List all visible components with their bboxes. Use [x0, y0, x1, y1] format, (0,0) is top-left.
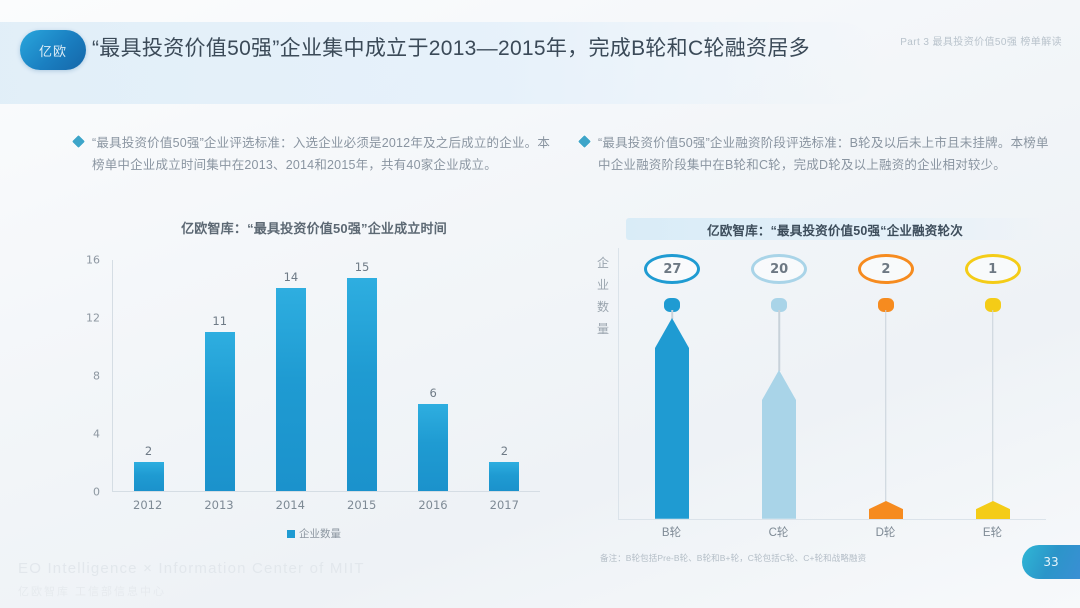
connector-stem	[992, 310, 994, 502]
chart-title-bar: 亿欧智库：“最具投资价值50强“企业融资轮次	[626, 218, 1044, 240]
bar-chart-plot-area: 0481216 211141562 2012201320142015201620…	[74, 248, 554, 528]
x-axis-tick: 2015	[331, 498, 393, 512]
connector-stem	[778, 310, 780, 371]
page-number-badge: 33	[1022, 545, 1080, 579]
funnel-series: 272021	[619, 248, 1046, 519]
funnel-x-axis-tick: D轮	[838, 524, 932, 540]
brand-logo-text: 亿欧	[39, 41, 67, 60]
chart-title-founding-year: 亿欧智库：“最具投资价值50强”企业成立时间	[74, 218, 554, 237]
chart-legend: 企业数量	[74, 526, 554, 541]
bar-rect[interactable]	[418, 404, 448, 491]
diamond-bullet-icon	[72, 135, 85, 148]
funnel-column[interactable]: 27	[625, 248, 719, 519]
bar-value-label: 6	[430, 386, 437, 400]
bar-rect[interactable]	[347, 278, 377, 491]
bullet-right: “最具投资价值50强”企业融资阶段评选标准：B轮及以后未上市且未挂牌。本榜单中企…	[580, 132, 1050, 176]
footer-english: EO Intelligence × Information Center of …	[18, 560, 365, 577]
x-axis-tick: 2013	[188, 498, 250, 512]
footer-chinese: 亿欧智库 工信部信息中心	[18, 583, 166, 599]
bullet-right-text: “最具投资价值50强”企业融资阶段评选标准：B轮及以后未上市且未挂牌。本榜单中企…	[598, 132, 1050, 176]
bar-rect[interactable]	[489, 462, 519, 491]
funnel-column[interactable]: 2	[839, 248, 933, 519]
chart-title-financing-round: 亿欧智库：“最具投资价值50强“企业融资轮次	[707, 220, 963, 239]
bar-column[interactable]: 2	[473, 260, 535, 491]
legend-swatch-icon	[287, 530, 295, 538]
bar-column[interactable]: 15	[331, 260, 393, 491]
bar-value-label: 11	[212, 314, 227, 328]
x-axis-tick: 2017	[473, 498, 535, 512]
bullet-left: “最具投资价值50强”企业评选标准：入选企业必须是2012年及之后成立的企业。本…	[74, 132, 552, 176]
legend-label: 企业数量	[299, 526, 341, 541]
value-ring[interactable]: 2	[858, 254, 914, 284]
funnel-shape[interactable]	[655, 318, 689, 519]
funnel-x-axis-tick: B轮	[624, 524, 718, 540]
x-axis-tick: 2014	[259, 498, 321, 512]
funnel-shape[interactable]	[762, 370, 796, 519]
bar-value-label: 2	[145, 444, 152, 458]
y-axis-title: 企业数量	[594, 252, 612, 340]
chart-founding-year: 亿欧智库：“最具投资价值50强”企业成立时间 0481216 211141562…	[74, 218, 554, 558]
bullet-left-text: “最具投资价值50强”企业评选标准：入选企业必须是2012年及之后成立的企业。本…	[92, 132, 552, 176]
page-number-text: 33	[1043, 555, 1058, 569]
y-axis-tick: 8	[93, 370, 100, 383]
funnel-column[interactable]: 1	[946, 248, 1040, 519]
page-title: “最具投资价值50强”企业集中成立于2013—2015年，完成B轮和C轮融资居多	[92, 33, 822, 64]
value-ring[interactable]: 27	[644, 254, 700, 284]
y-axis-tick: 0	[93, 486, 100, 499]
bar-rect[interactable]	[134, 462, 164, 491]
funnel-shape[interactable]	[976, 501, 1010, 519]
x-axis-ticks: 201220132014201520162017	[112, 498, 540, 512]
bar-rect[interactable]	[276, 288, 306, 491]
y-axis-tick: 16	[86, 254, 100, 267]
x-axis-tick: 2016	[402, 498, 464, 512]
funnel-x-axis-ticks: B轮C轮D轮E轮	[618, 524, 1046, 540]
bar-rect[interactable]	[205, 332, 235, 492]
section-part-label: Part 3 最具投资价值50强 榜单解读	[897, 36, 1062, 50]
chart-financing-round: 亿欧智库：“最具投资价值50强“企业融资轮次 企业数量 272021 B轮C轮D…	[592, 218, 1052, 568]
slide-canvas: 亿欧 “最具投资价值50强”企业集中成立于2013—2015年，完成B轮和C轮融…	[0, 0, 1080, 608]
chart-footnote: 备注：B轮包括Pre-B轮、B轮和B+轮，C轮包括C轮、C+轮和战略融资	[600, 552, 1052, 564]
ring-value-label: 20	[770, 262, 788, 277]
connector-stem	[885, 310, 887, 502]
funnel-x-axis-tick: C轮	[731, 524, 825, 540]
y-axis-tick: 4	[93, 428, 100, 441]
bar-value-label: 2	[501, 444, 508, 458]
funnel-column[interactable]: 20	[732, 248, 826, 519]
y-axis-ticks: 0481216	[74, 260, 104, 492]
ring-value-label: 1	[988, 262, 997, 277]
value-ring[interactable]: 20	[751, 254, 807, 284]
diamond-bullet-icon	[578, 135, 591, 148]
ring-value-label: 27	[663, 262, 681, 277]
bar-series: 211141562	[113, 260, 540, 491]
bar-column[interactable]: 6	[402, 260, 464, 491]
bar-value-label: 15	[355, 260, 370, 274]
bar-plot: 211141562	[112, 260, 540, 492]
y-axis-tick: 12	[86, 312, 100, 325]
funnel-shape[interactable]	[869, 501, 903, 519]
x-axis-tick: 2012	[117, 498, 179, 512]
bar-column[interactable]: 2	[118, 260, 180, 491]
bar-column[interactable]: 11	[189, 260, 251, 491]
ring-value-label: 2	[881, 262, 890, 277]
funnel-plot: 272021	[618, 248, 1046, 520]
brand-logo: 亿欧	[20, 30, 86, 70]
funnel-x-axis-tick: E轮	[945, 524, 1039, 540]
bar-value-label: 14	[284, 270, 299, 284]
value-ring[interactable]: 1	[965, 254, 1021, 284]
bar-column[interactable]: 14	[260, 260, 322, 491]
